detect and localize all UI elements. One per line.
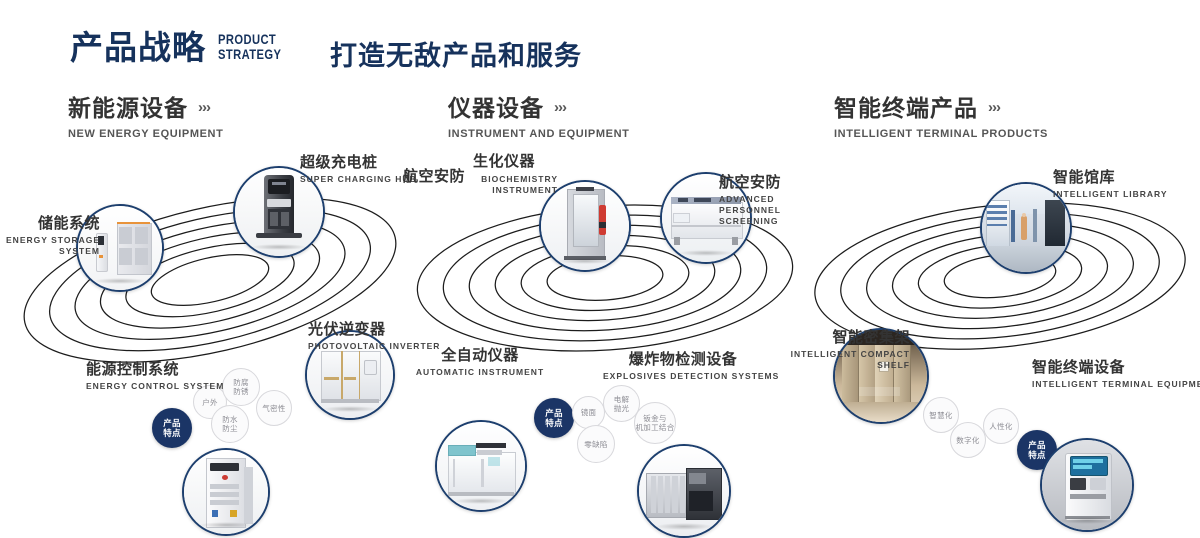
caption-compact-shelving: 智能密集架 INTELLIGENT COMPACT SHELF: [785, 328, 910, 371]
feature-bubble-digital: 数字化: [950, 422, 986, 458]
feature-bubble-mirror: 镜面: [572, 396, 605, 429]
page-title-cn: 产品战略: [70, 28, 206, 68]
caption-explosives-detector: 爆炸物检测设备 EXPLOSIVES DETECTION SYSTEMS: [603, 350, 763, 382]
page-header: 产品战略 PRODUCT STRATEGY 打造无敌产品和服务: [0, 0, 1200, 86]
core-feature-bubble: 产品特点: [534, 398, 574, 438]
caption-biochemistry-instrument: 生化仪器: [473, 152, 535, 171]
feature-bubble-anticorrosion: 防腐防锈: [222, 368, 260, 406]
product-bubble-self-service-kiosk[interactable]: [1040, 438, 1134, 532]
feature-bubble-waterproof: 防水防尘: [211, 405, 249, 443]
feature-bubble-humanized: 人性化: [983, 408, 1019, 444]
section-title-cn: 智能终端产品›››: [834, 94, 1048, 122]
section-title-cn: 新能源设备›››: [68, 94, 223, 122]
product-bubble-energy-control[interactable]: [182, 448, 270, 536]
section-title-new-energy: 新能源设备››› NEW ENERGY EQUIPMENT: [68, 94, 223, 140]
chevron-right-icon: ›››: [554, 94, 566, 122]
section-title-en: INTELLIGENT TERMINAL PRODUCTS: [834, 128, 1048, 140]
chevron-right-icon: ›››: [198, 94, 210, 122]
page-slogan: 打造无敌产品和服务: [330, 34, 582, 73]
section-title-cn: 仪器设备›››: [448, 94, 629, 122]
caption-smart-library: 智能馆库 INTELLIGENT LIBRARY: [1053, 168, 1168, 200]
product-bubble-automatic-analyzer[interactable]: [435, 420, 527, 512]
caption-energy-control: 能源控制系统 ENERGY CONTROL SYSTEM: [86, 360, 224, 392]
caption-biochemistry-instrument-en: BIOCHEMISTRY INSTRUMENT: [473, 172, 558, 196]
product-bubble-explosives-detector[interactable]: [637, 444, 731, 538]
feature-bubble-sheetmetal-machining: 钣金与机加工结合: [634, 402, 676, 444]
section-title-intelligent-terminal: 智能终端产品››› INTELLIGENT TERMINAL PRODUCTS: [834, 94, 1048, 140]
section-title-instrument: 仪器设备››› INSTRUMENT AND EQUIPMENT: [448, 94, 629, 140]
feature-bubble-airtight: 气密性: [256, 390, 292, 426]
section-title-en: INSTRUMENT AND EQUIPMENT: [448, 128, 629, 140]
cluster-instrument: 产品特点 镜面 电解抛光 钣金与机加工结合 零缺陷: [395, 150, 815, 400]
page-title-en: PRODUCT STRATEGY: [218, 32, 281, 62]
core-feature-bubble: 产品特点: [152, 408, 192, 448]
caption-energy-storage: 储能系统 ENERGY STORAGE SYSTEM: [0, 214, 100, 257]
cluster-new-energy: 产品特点 户外 防腐防锈 防水防尘 气密性: [0, 150, 420, 400]
caption-self-service-kiosk: 智能终端设备 INTELLIGENT TERMINAL EQUIPMENT: [1032, 358, 1200, 390]
chevron-right-icon: ›››: [988, 94, 1000, 122]
feature-bubble-zero-defect: 零缺陷: [577, 425, 615, 463]
cluster-intelligent-terminal: 智慧化 数字化 人性化 产品特点: [795, 150, 1200, 400]
section-title-en: NEW ENERGY EQUIPMENT: [68, 128, 223, 140]
caption-automatic-analyzer: 全自动仪器 AUTOMATIC INSTRUMENT: [405, 346, 555, 378]
caption-aviation-security-left: 航空安防: [403, 167, 465, 186]
